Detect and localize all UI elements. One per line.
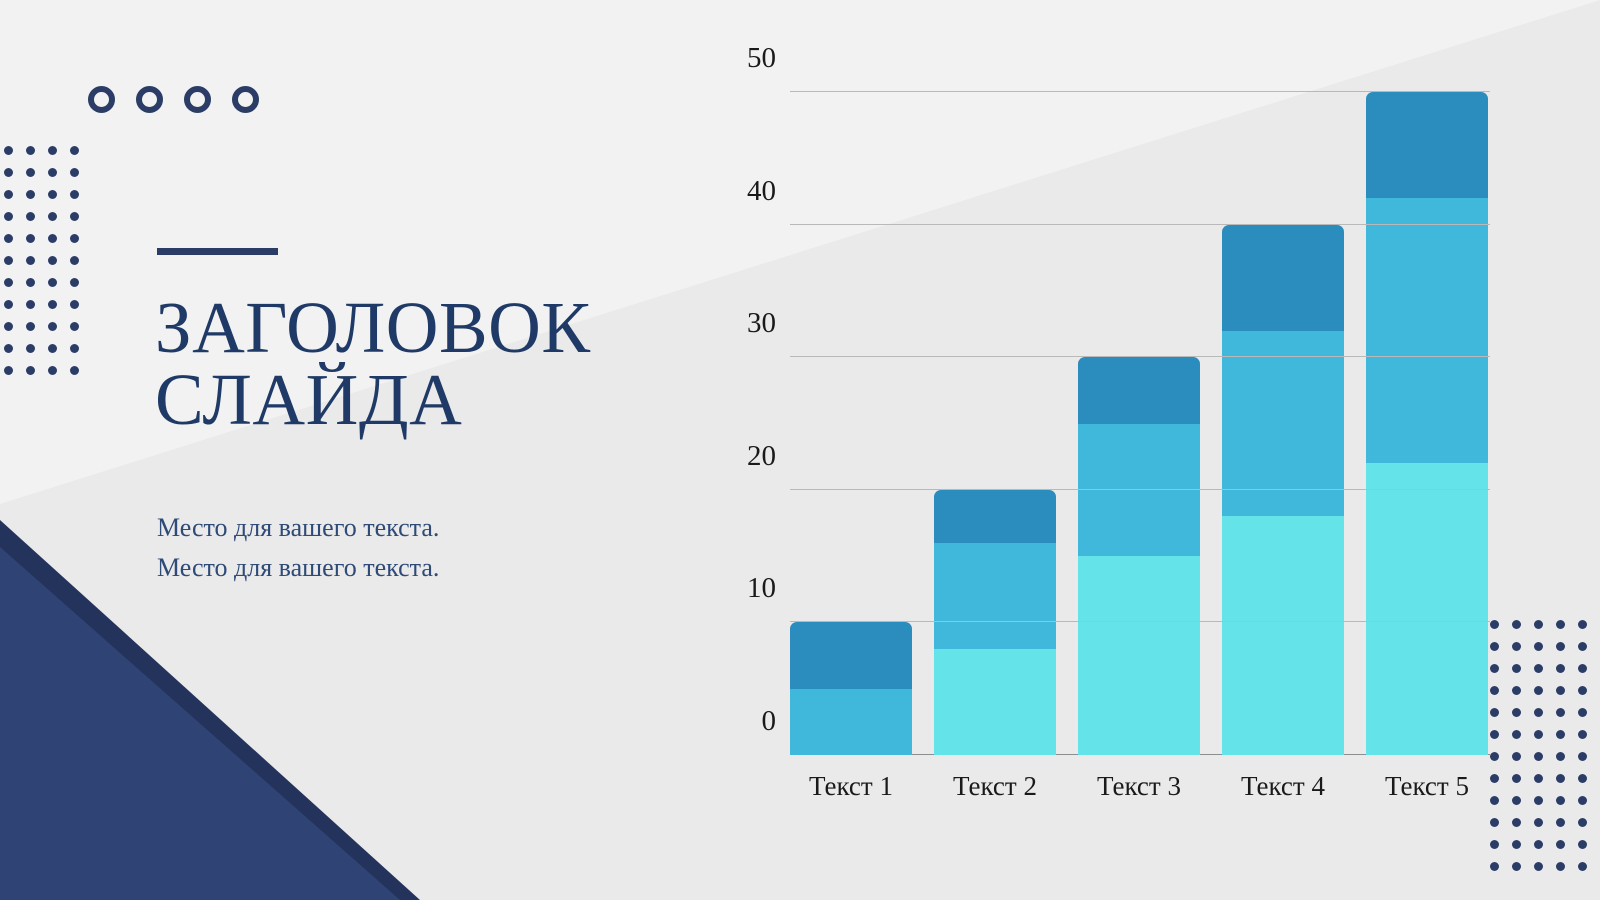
bar-segment-light — [934, 649, 1056, 755]
y-axis-tick-label: 50 — [747, 42, 776, 75]
dot-icon — [48, 256, 57, 265]
bar-segment-dark — [1366, 92, 1488, 198]
dot-icon — [1556, 664, 1565, 673]
dot-row — [4, 256, 92, 278]
bar-segment-light — [1222, 516, 1344, 755]
dot-icon — [26, 234, 35, 243]
dot-icon — [4, 146, 13, 155]
bar-group — [790, 92, 1490, 755]
dot-icon — [1578, 840, 1587, 849]
dot-icon — [1512, 862, 1521, 871]
dot-icon — [1534, 818, 1543, 827]
dot-icon — [1556, 708, 1565, 717]
dot-icon — [1534, 840, 1543, 849]
dot-icon — [1556, 752, 1565, 761]
dot-icon — [1490, 840, 1499, 849]
dot-icon — [1578, 862, 1587, 871]
dot-icon — [70, 146, 79, 155]
dot-row — [1490, 818, 1600, 840]
dot-icon — [1512, 730, 1521, 739]
dot-icon — [1556, 796, 1565, 805]
ring-icon — [232, 86, 259, 113]
subtitle-line-1: Место для вашего текста. — [157, 508, 677, 548]
dot-icon — [48, 190, 57, 199]
dot-icon — [1578, 620, 1587, 629]
chart-plot-area: 01020304050 — [790, 92, 1490, 755]
dot-icon — [70, 322, 79, 331]
gridline — [790, 489, 1490, 490]
page-title: ЗАГОЛОВОК СЛАЙДА — [155, 292, 675, 437]
ring-decoration-group — [88, 86, 259, 113]
dot-icon — [4, 234, 13, 243]
dot-icon — [4, 300, 13, 309]
dot-icon — [1534, 752, 1543, 761]
dot-icon — [1534, 664, 1543, 673]
dot-icon — [1578, 774, 1587, 783]
dot-icon — [1578, 730, 1587, 739]
dot-icon — [1490, 708, 1499, 717]
dot-icon — [70, 212, 79, 221]
dot-icon — [1556, 862, 1565, 871]
dot-icon — [1512, 774, 1521, 783]
dot-icon — [26, 278, 35, 287]
dot-row — [4, 212, 92, 234]
slide-canvas: ЗАГОЛОВОК СЛАЙДА Место для вашего текста… — [0, 0, 1600, 900]
y-axis-tick-label: 0 — [762, 705, 777, 738]
dot-icon — [1490, 664, 1499, 673]
bar-segment-light — [1366, 463, 1488, 755]
dot-icon — [1512, 642, 1521, 651]
dot-icon — [1556, 840, 1565, 849]
y-axis-tick-label: 40 — [747, 174, 776, 207]
dot-icon — [1512, 664, 1521, 673]
dot-icon — [48, 300, 57, 309]
dot-icon — [1534, 620, 1543, 629]
y-axis-tick-label: 10 — [747, 572, 776, 605]
dot-row — [1490, 840, 1600, 862]
gridline — [790, 356, 1490, 357]
dot-icon — [70, 256, 79, 265]
gridline — [790, 91, 1490, 92]
dot-icon — [1534, 862, 1543, 871]
dot-icon — [4, 168, 13, 177]
dot-icon — [26, 322, 35, 331]
dot-row — [1490, 642, 1600, 664]
dot-icon — [1556, 818, 1565, 827]
dot-icon — [70, 300, 79, 309]
dot-icon — [1578, 818, 1587, 827]
bar[interactable] — [1366, 92, 1488, 755]
dot-icon — [1490, 620, 1499, 629]
dot-icon — [1578, 752, 1587, 761]
bar-segment-dark — [1222, 225, 1344, 331]
dot-icon — [26, 212, 35, 221]
bar-segment-light — [1078, 556, 1200, 755]
dot-icon — [26, 146, 35, 155]
dot-icon — [1556, 686, 1565, 695]
bar-segment-medium — [1078, 424, 1200, 557]
bar-segment-medium — [790, 689, 912, 755]
dot-row — [1490, 774, 1600, 796]
dot-icon — [4, 212, 13, 221]
ring-icon — [88, 86, 115, 113]
dot-row — [4, 168, 92, 190]
dot-row — [1490, 796, 1600, 818]
bar[interactable] — [790, 622, 912, 755]
dot-icon — [1490, 774, 1499, 783]
dot-icon — [1534, 796, 1543, 805]
dot-row — [4, 344, 92, 366]
dot-icon — [1490, 796, 1499, 805]
dot-icon — [1534, 686, 1543, 695]
dot-row — [4, 190, 92, 212]
dot-icon — [1490, 862, 1499, 871]
dot-icon — [48, 234, 57, 243]
dot-row — [4, 300, 92, 322]
dot-row — [4, 366, 92, 388]
bar[interactable] — [934, 490, 1056, 755]
dot-icon — [70, 190, 79, 199]
dot-icon — [1490, 752, 1499, 761]
y-axis-tick-label: 20 — [747, 440, 776, 473]
dot-row — [1490, 862, 1600, 884]
dot-icon — [1534, 642, 1543, 651]
dot-row — [4, 146, 92, 168]
dot-icon — [4, 344, 13, 353]
dot-icon — [1534, 730, 1543, 739]
dot-icon — [48, 344, 57, 353]
dot-icon — [70, 344, 79, 353]
bar-segment-medium — [1366, 198, 1488, 463]
dot-icon — [1534, 708, 1543, 717]
dot-icon — [1490, 642, 1499, 651]
title-rule — [157, 248, 278, 255]
dot-grid-left-icon — [4, 146, 92, 388]
dot-row — [4, 322, 92, 344]
dot-icon — [48, 366, 57, 375]
dot-icon — [1534, 774, 1543, 783]
dot-icon — [1578, 796, 1587, 805]
subtitle-line-2: Место для вашего текста. — [157, 548, 677, 588]
dot-icon — [4, 278, 13, 287]
bar-segment-dark — [790, 622, 912, 688]
dot-icon — [70, 278, 79, 287]
dot-icon — [48, 146, 57, 155]
dot-icon — [1578, 642, 1587, 651]
gridline — [790, 224, 1490, 225]
dot-icon — [4, 322, 13, 331]
dot-icon — [26, 366, 35, 375]
dot-icon — [1490, 730, 1499, 739]
dot-row — [1490, 730, 1600, 752]
x-axis-tick-label: Текст 4 — [1222, 771, 1344, 802]
dot-row — [1490, 686, 1600, 708]
bar[interactable] — [1078, 357, 1200, 755]
dot-icon — [26, 168, 35, 177]
x-axis-tick-label: Текст 3 — [1078, 771, 1200, 802]
dot-icon — [4, 256, 13, 265]
dot-icon — [1556, 730, 1565, 739]
dot-icon — [1578, 686, 1587, 695]
dot-icon — [70, 234, 79, 243]
x-axis-tick-label: Текст 5 — [1366, 771, 1488, 802]
dot-icon — [4, 190, 13, 199]
dot-icon — [4, 366, 13, 375]
dot-grid-right-icon — [1490, 620, 1600, 884]
dot-icon — [70, 168, 79, 177]
dot-icon — [1556, 774, 1565, 783]
dot-icon — [26, 300, 35, 309]
y-axis-tick-label: 30 — [747, 307, 776, 340]
dot-icon — [1490, 818, 1499, 827]
bar-segment-dark — [934, 490, 1056, 543]
dot-icon — [1556, 620, 1565, 629]
subtitle-block: Место для вашего текста. Место для вашег… — [157, 508, 677, 587]
dot-icon — [1512, 620, 1521, 629]
dot-row — [4, 234, 92, 256]
gridline — [790, 621, 1490, 622]
bar-segment-dark — [1078, 357, 1200, 423]
dot-icon — [48, 212, 57, 221]
dot-icon — [1512, 686, 1521, 695]
bar-segment-medium — [934, 543, 1056, 649]
dot-icon — [1512, 840, 1521, 849]
dot-row — [4, 278, 92, 300]
x-axis-tick-label: Текст 1 — [790, 771, 912, 802]
ring-icon — [184, 86, 211, 113]
dot-icon — [70, 366, 79, 375]
dot-icon — [1490, 686, 1499, 695]
stacked-bar-chart: 01020304050 Текст 1Текст 2Текст 3Текст 4… — [735, 70, 1495, 810]
ring-icon — [136, 86, 163, 113]
dot-icon — [48, 168, 57, 177]
dot-icon — [1512, 708, 1521, 717]
dot-icon — [48, 322, 57, 331]
dot-icon — [1512, 796, 1521, 805]
x-axis-labels: Текст 1Текст 2Текст 3Текст 4Текст 5 — [790, 771, 1490, 802]
dot-icon — [1512, 818, 1521, 827]
dot-icon — [1578, 664, 1587, 673]
dot-icon — [48, 278, 57, 287]
dot-icon — [26, 256, 35, 265]
dot-row — [1490, 620, 1600, 642]
dot-icon — [1512, 752, 1521, 761]
dot-row — [1490, 708, 1600, 730]
dot-row — [1490, 664, 1600, 686]
dot-icon — [26, 190, 35, 199]
dot-icon — [1578, 708, 1587, 717]
dot-icon — [26, 344, 35, 353]
dot-icon — [1556, 642, 1565, 651]
dot-row — [1490, 752, 1600, 774]
x-axis-tick-label: Текст 2 — [934, 771, 1056, 802]
